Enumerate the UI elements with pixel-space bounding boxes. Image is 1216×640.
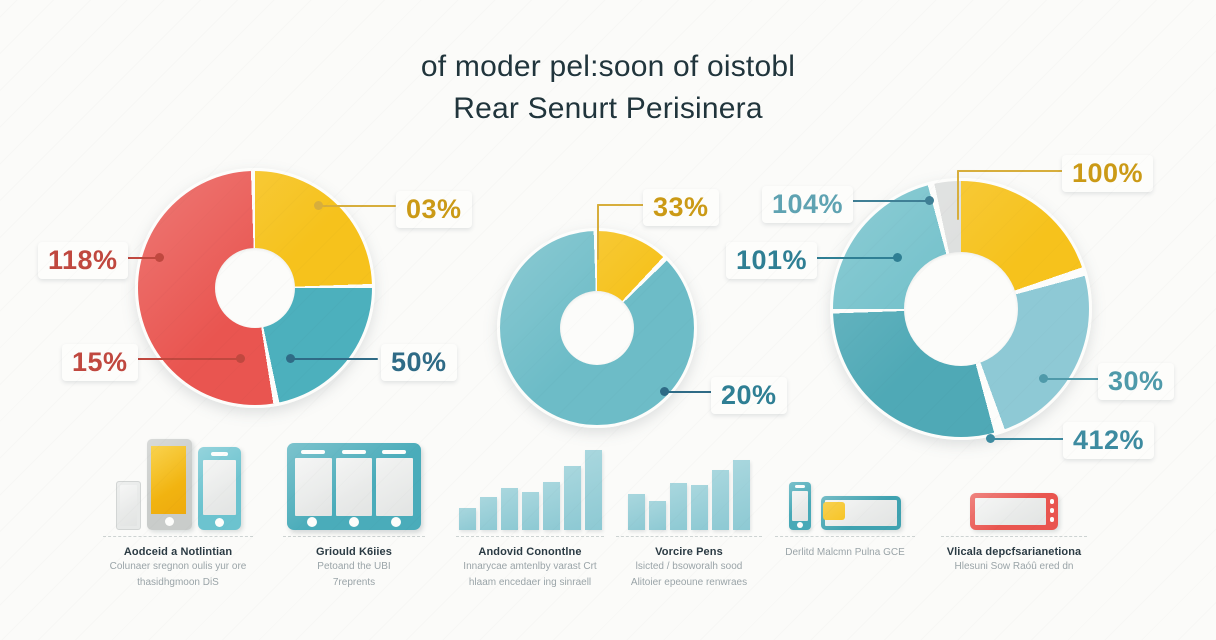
legend-item-phones-group[interactable]: Aodceid a Notlintian Colunaer sregnon ou… <box>88 430 268 590</box>
legend-divider-2 <box>283 536 425 537</box>
callout-left-50: 50% <box>381 344 457 381</box>
leader-line-20 <box>664 391 712 393</box>
leader-dot-50 <box>286 354 295 363</box>
phone-large-home-button <box>165 517 174 526</box>
tablet-pane-1-screen <box>295 458 332 516</box>
legend-divider-4 <box>616 536 762 537</box>
phone-teal-screen <box>203 460 236 515</box>
bars-group-1-art <box>445 430 615 530</box>
tablet-pane-2-screen <box>336 458 373 516</box>
callout-right-104: 104% <box>762 186 853 223</box>
legend-sub-1-line-2: thasidhgmoon DiS <box>88 576 268 590</box>
legend-divider-1 <box>103 536 253 537</box>
legend-item-device-group-red[interactable]: Vlicala depcfsarianetiona Hlesuni Sow Ra… <box>930 430 1098 576</box>
bar <box>501 488 518 530</box>
donut-right-hole <box>904 252 1018 366</box>
phone-small-screen <box>120 485 137 526</box>
phone-teal-home-button <box>215 518 224 527</box>
leader-line-33-vertical <box>597 204 599 260</box>
legend-sub-6-line-1: Hlesuni Sow Raóû ered dn <box>930 560 1098 574</box>
bar <box>480 497 497 530</box>
donut-right-ring <box>830 178 1092 440</box>
leader-line-100 <box>957 170 1065 172</box>
legend-sub-4-line-1: lsicted / bsoworalh sood <box>605 560 773 574</box>
legend-item-device-group-teal[interactable]: Derlitd Malcmn Pulna GCE <box>765 430 925 562</box>
leader-dot-101 <box>893 253 902 262</box>
phone-large-yellow-icon <box>147 439 192 530</box>
legend-item-bars-group-1[interactable]: Andovid Conontlne Innarycae amtenlby var… <box>445 430 615 590</box>
callout-left-15: 15% <box>62 344 138 381</box>
legend-sub-1-line-1: Colunaer sregnon oulis yur ore <box>88 560 268 574</box>
bar <box>733 460 750 530</box>
tablet-wide-red-screen <box>975 498 1046 525</box>
callout-left-118: 118% <box>38 242 128 279</box>
bar <box>712 470 729 530</box>
legend-title-1: Aodceid a Notlintian <box>88 546 268 558</box>
donut-chart-right <box>830 178 1092 440</box>
bar <box>564 466 581 530</box>
device-group-teal-art <box>765 430 925 530</box>
phones-group-art <box>88 430 268 530</box>
device-group-red-art <box>930 430 1098 530</box>
legend-title-3: Andovid Conontlne <box>445 546 615 558</box>
legend-sub-5-line-1: Derlitd Malcmn Pulna GCE <box>765 546 925 560</box>
phone-small-grey-icon <box>116 481 141 530</box>
page-title: of moder pel:soon of oistobl Rear Senurt… <box>0 46 1216 130</box>
legend-title-6: Vlicala depcfsarianetiona <box>930 546 1098 558</box>
tablet-wide-red-icon <box>970 493 1058 530</box>
bars-group-2-art <box>605 430 773 530</box>
leader-dot-30 <box>1039 374 1048 383</box>
leader-line-104 <box>846 200 930 202</box>
legend-sub-3-line-1: Innarycae amtenlby varast Crt <box>445 560 615 574</box>
donut-chart-left <box>135 168 375 408</box>
phone-teal-speaker <box>211 452 228 456</box>
legend-row: Aodceid a Notlintian Colunaer sregnon ou… <box>0 430 1216 630</box>
callout-right-30: 30% <box>1098 363 1174 400</box>
bar <box>670 483 687 530</box>
tablet-pane-1-speaker <box>301 450 325 454</box>
tablet-wide-yellow-tile <box>823 502 845 520</box>
leader-dot-118 <box>155 253 164 262</box>
phone-mini-screen <box>792 491 808 521</box>
legend-sub-4-line-2: Alitoier epeoune renwraes <box>605 576 773 590</box>
bar <box>585 450 602 530</box>
page-title-line-1: of moder pel:soon of oistobl <box>0 46 1216 88</box>
bar <box>459 508 476 530</box>
leader-line-101 <box>812 257 898 259</box>
tablet-home-button-2 <box>349 517 359 527</box>
tablet-red-button-2 <box>1050 508 1054 513</box>
leader-line-33 <box>597 204 645 206</box>
tablet-pane-2-speaker <box>342 450 366 454</box>
bar-chart-android-conontlne <box>459 430 602 530</box>
bar <box>543 482 560 530</box>
phone-large-screen <box>151 446 186 514</box>
legend-divider-3 <box>456 536 604 537</box>
legend-sub-3-line-2: hlaam encedaer ing sinraell <box>445 576 615 590</box>
tablet-red-button-1 <box>1050 499 1054 504</box>
callout-right-100: 100% <box>1062 155 1153 192</box>
bar <box>628 494 645 530</box>
phone-mini-speaker <box>795 485 805 488</box>
legend-sub-2-line-2: 7reprents <box>268 576 440 590</box>
tablet-red-button-3 <box>1050 517 1054 522</box>
donut-left-ring <box>135 168 375 408</box>
leader-line-15 <box>130 358 240 360</box>
legend-item-tablet-group[interactable]: Griould K6iies Petoand the UBI 7reprents <box>268 430 440 590</box>
leader-line-03 <box>318 205 396 207</box>
bar <box>522 492 539 530</box>
callout-middle-20: 20% <box>711 377 787 414</box>
bar-chart-vorcire-pens <box>628 430 750 530</box>
phone-teal-icon <box>198 447 241 530</box>
callout-right-101: 101% <box>726 242 817 279</box>
phone-mini-home-button <box>797 522 803 528</box>
callout-middle-33: 33% <box>643 189 719 226</box>
tablet-home-button-3 <box>391 517 401 527</box>
tablet-home-button-1 <box>307 517 317 527</box>
tablet-pane-3-speaker <box>382 450 406 454</box>
legend-title-4: Vorcire Pens <box>605 546 773 558</box>
leader-dot-15 <box>236 354 245 363</box>
phone-mini-teal-icon <box>789 482 811 530</box>
leader-line-50 <box>290 358 378 360</box>
legend-divider-6 <box>941 536 1087 537</box>
tablet-group-art <box>268 430 440 530</box>
donut-middle-hole <box>560 291 634 365</box>
leader-line-100-vertical <box>957 170 959 220</box>
legend-title-2: Griould K6iies <box>268 546 440 558</box>
leader-line-30 <box>1043 378 1101 380</box>
tablet-wide-teal-icon <box>821 496 901 530</box>
tablet-pane-3-screen <box>376 458 413 516</box>
bar <box>691 485 708 530</box>
donut-left-hole <box>215 248 295 328</box>
legend-divider-5 <box>775 536 915 537</box>
leader-dot-03 <box>314 201 323 210</box>
legend-sub-2-line-1: Petoand the UBI <box>268 560 440 574</box>
leader-dot-20 <box>660 387 669 396</box>
tablet-landscape-teal-icon <box>287 443 421 530</box>
callout-left-03: 03% <box>396 191 472 228</box>
leader-dot-104 <box>925 196 934 205</box>
legend-item-bars-group-2[interactable]: Vorcire Pens lsicted / bsoworalh sood Al… <box>605 430 773 590</box>
page-title-line-2: Rear Senurt Perisinera <box>0 88 1216 130</box>
bar <box>649 501 666 530</box>
